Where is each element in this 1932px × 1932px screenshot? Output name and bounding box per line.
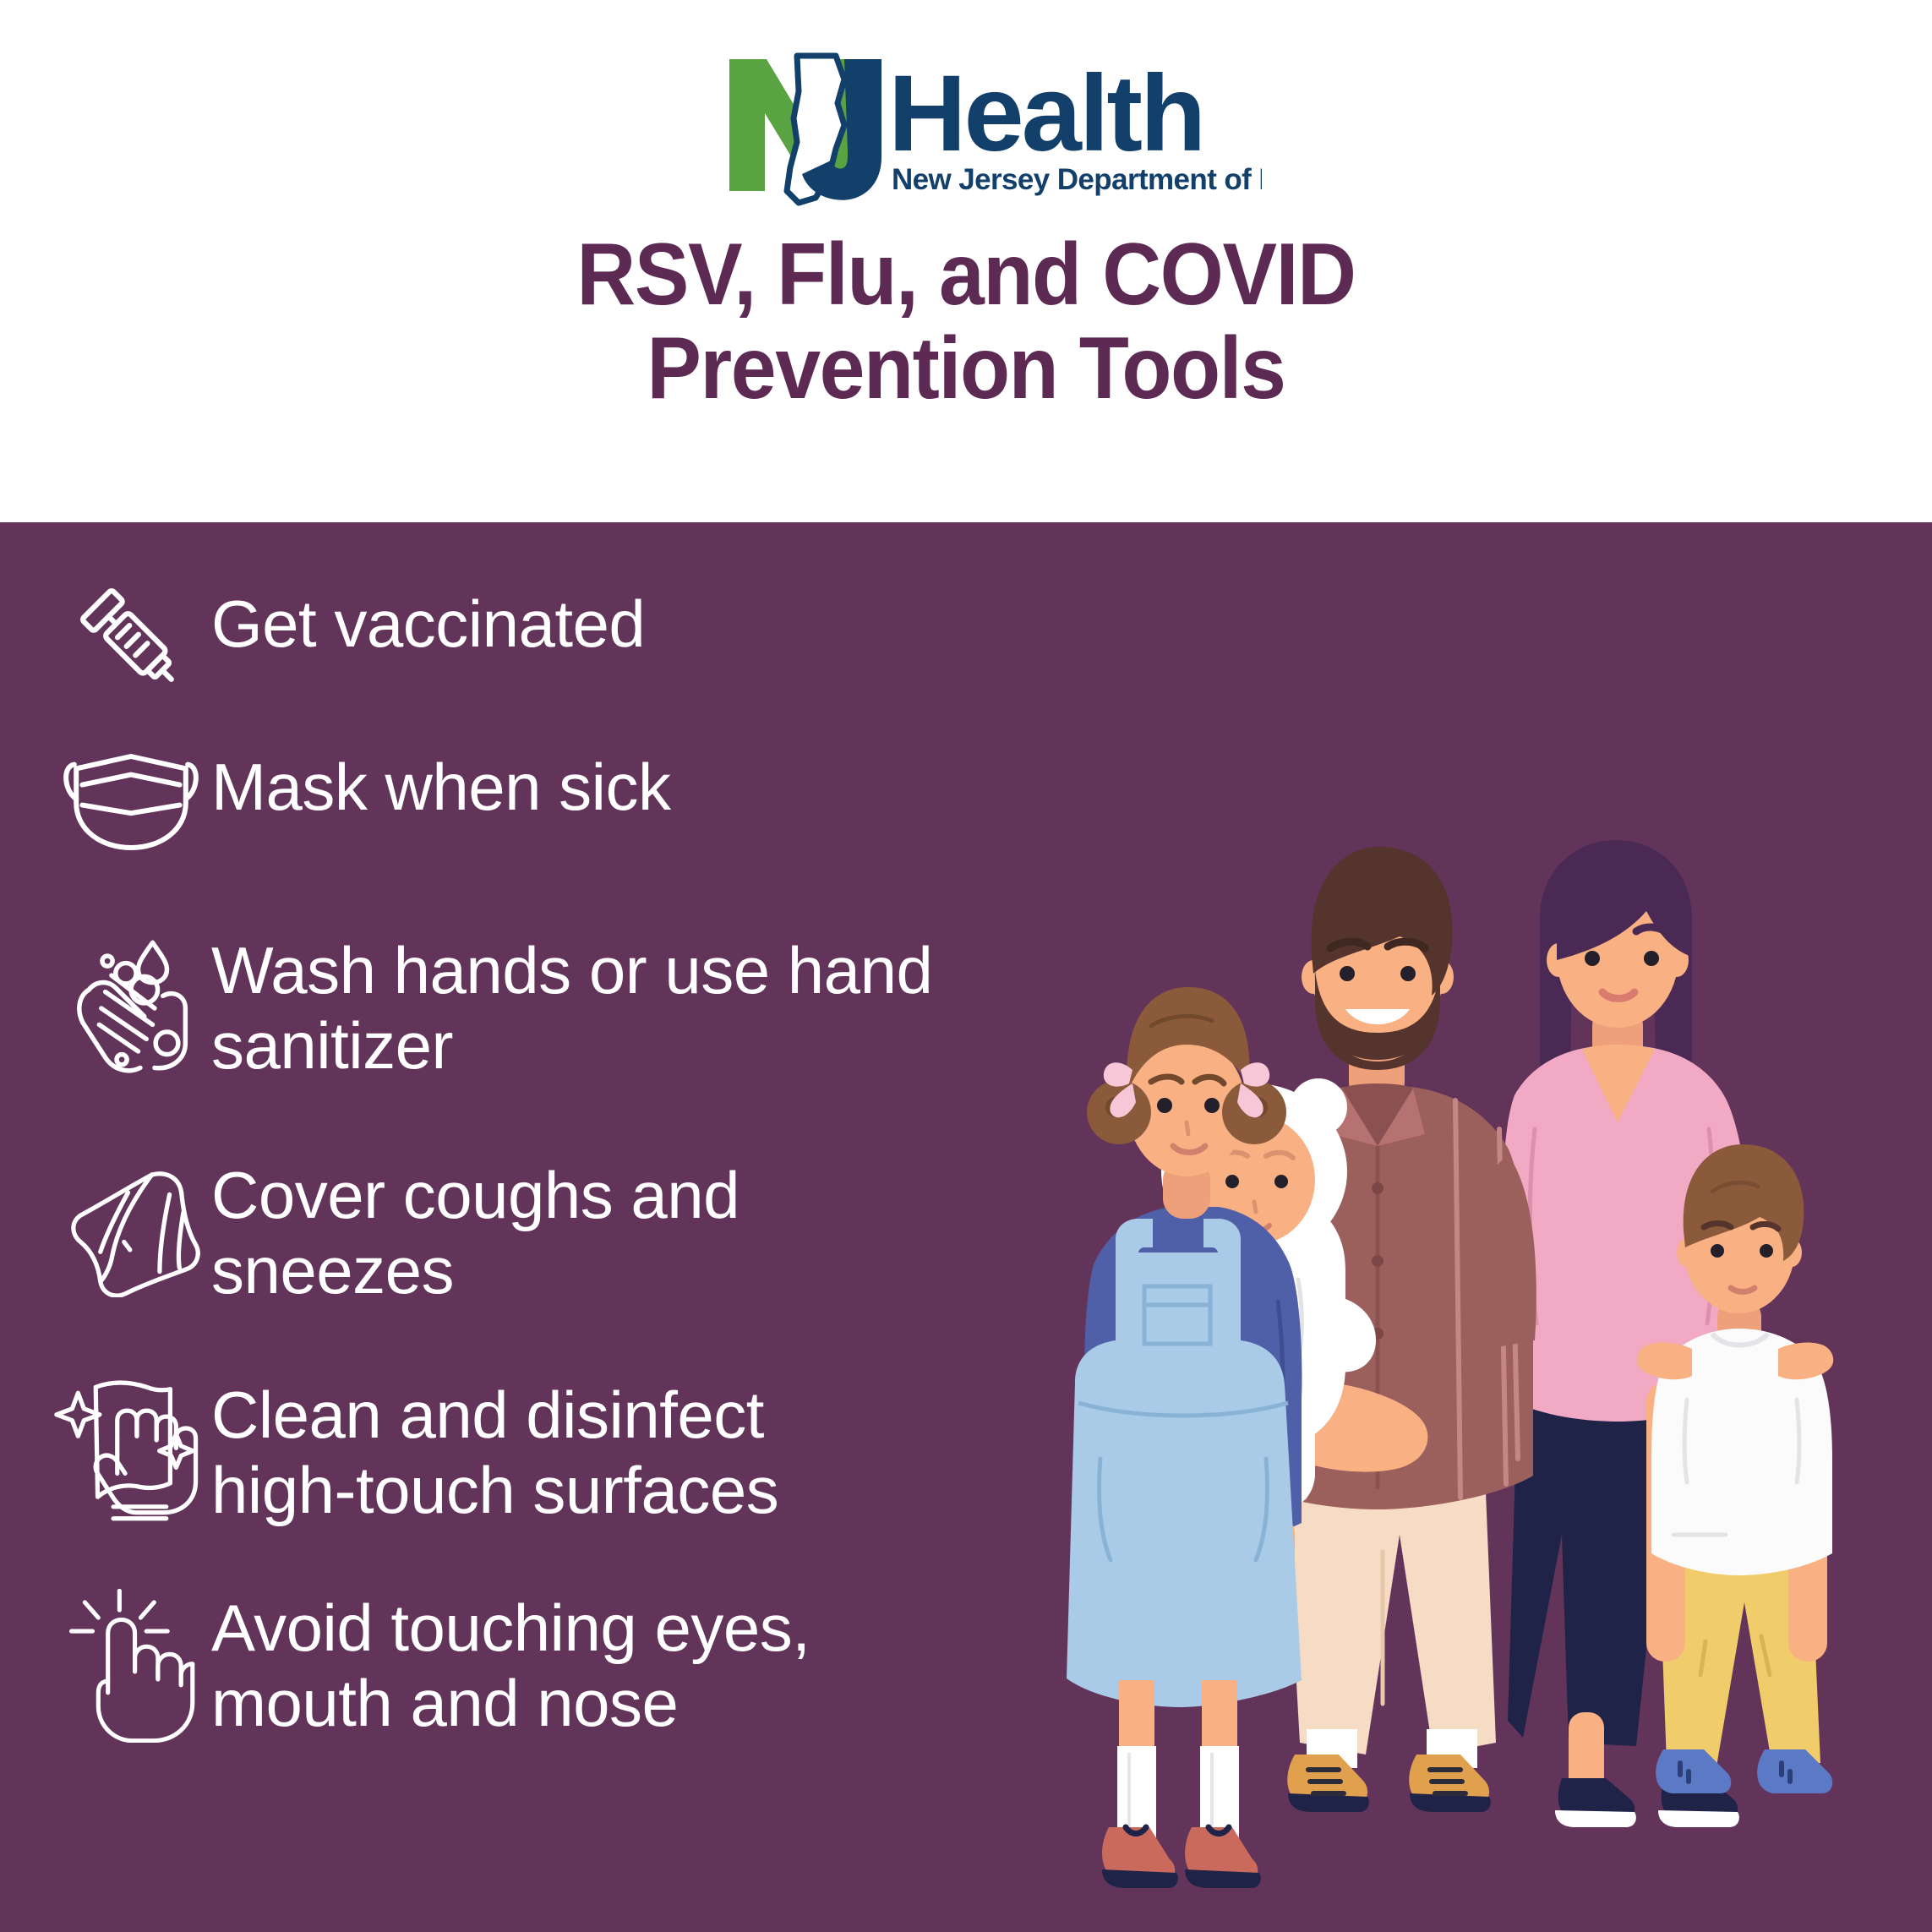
tip-label: Wash hands or use hand sanitizer: [211, 911, 932, 1083]
tissue-icon: [51, 1136, 211, 1330]
figure-girl: [1067, 987, 1302, 1888]
tip-label: Cover coughs and sneezes: [211, 1136, 740, 1308]
syringe-icon: [51, 565, 211, 712]
prevention-tips-panel: Get vaccinated Mask when sick: [0, 522, 1932, 1932]
tip-item-get-vaccinated: Get vaccinated: [51, 565, 1141, 712]
tip-item-mask-when-sick: Mask when sick: [51, 728, 1141, 876]
title-line-1: RSV, Flu, and COVID: [298, 228, 1635, 322]
title-line-2: Prevention Tools: [298, 322, 1635, 416]
clean-wipe-icon: [51, 1356, 211, 1550]
logo-tagline: New Jersey Department of Health: [892, 163, 1262, 196]
tip-label: Get vaccinated: [211, 565, 645, 662]
prevention-tips-list: Get vaccinated Mask when sick: [51, 565, 1141, 1775]
tip-item-cover-coughs: Cover coughs and sneezes: [51, 1136, 1141, 1330]
header-band: Health New Jersey Department of Health R…: [0, 0, 1932, 522]
family-of-five-illustration: [1045, 791, 1907, 1932]
tip-label: Avoid touching eyes, mouth and nose: [211, 1569, 810, 1741]
wash-hands-icon: [51, 911, 211, 1105]
tip-label: Clean and disinfect high-touch surfaces: [211, 1356, 778, 1528]
face-mask-icon: [51, 728, 211, 876]
nj-health-logo: Health New Jersey Department of Health: [670, 41, 1262, 210]
tip-label: Mask when sick: [211, 728, 671, 825]
logo-wordmark: Health: [888, 53, 1203, 174]
page-title: RSV, Flu, and COVID Prevention Tools: [248, 228, 1684, 417]
pointing-hand-icon: [51, 1569, 211, 1763]
tip-item-avoid-touching: Avoid touching eyes, mouth and nose: [51, 1569, 1141, 1763]
tip-item-clean-disinfect: Clean and disinfect high-touch surfaces: [51, 1356, 1141, 1550]
tip-item-wash-hands: Wash hands or use hand sanitizer: [51, 911, 1141, 1105]
